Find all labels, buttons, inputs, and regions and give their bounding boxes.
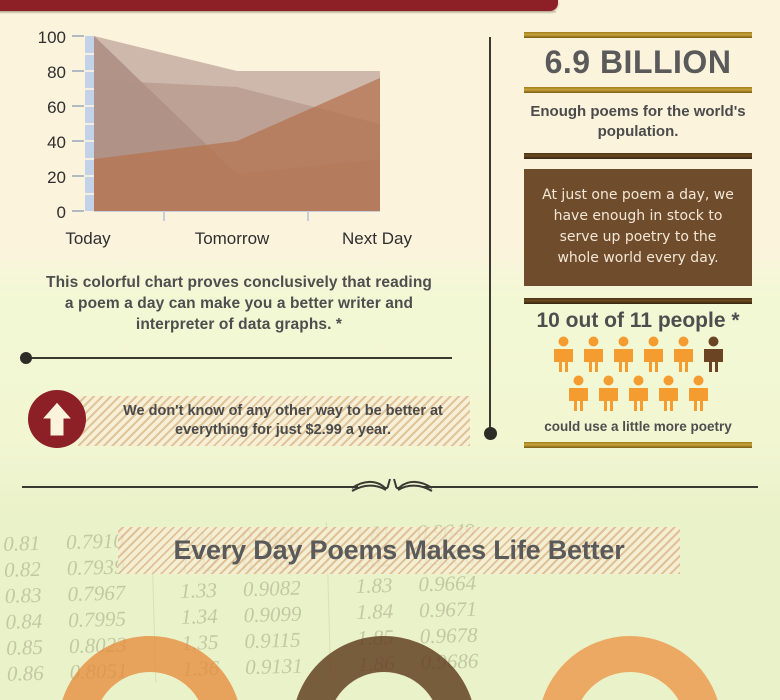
- y-tick-label: 100: [38, 28, 66, 47]
- y-tick-label: 0: [57, 203, 66, 222]
- y-tick-marks: [72, 36, 84, 211]
- person-icon-on: [656, 375, 681, 411]
- ratio-headline: 10 out of 11 people *: [524, 304, 752, 336]
- top-banner-shadow: [0, 11, 556, 14]
- up-arrow-icon: [41, 400, 73, 438]
- big-number-stat: 6.9 BILLION: [524, 38, 752, 87]
- dark-divider-above-box: [524, 153, 752, 159]
- z-cell: 1.33: [180, 577, 217, 604]
- chart-canvas: 100 80 60 40 20 0: [0, 22, 470, 252]
- vertical-divider-line: [489, 37, 491, 433]
- vertical-divider: [484, 32, 498, 440]
- y-tick-label: 60: [47, 98, 66, 117]
- p-cell: 0.7939: [66, 553, 124, 581]
- z-cell: 0.83: [4, 582, 41, 609]
- person-icon-on: [566, 375, 591, 411]
- person-icon-off: [701, 336, 726, 372]
- ornamental-divider-line-left: [22, 486, 358, 488]
- area-chart: 100 80 60 40 20 0: [0, 22, 470, 252]
- z-cell: 0.84: [5, 608, 42, 635]
- p-cell: 0.9082: [243, 575, 301, 603]
- z-cell: 1.83: [355, 572, 392, 599]
- p-cell: 0.9099: [243, 601, 301, 629]
- x-tick-label-nextday: Next Day: [342, 229, 412, 248]
- y-tick-label: 80: [47, 63, 66, 82]
- y-axis-labels: 100 80 60 40 20 0: [38, 28, 66, 222]
- dotted-divider: [20, 352, 452, 364]
- vertical-divider-dot: [484, 427, 497, 440]
- z-cell: 0.85: [6, 634, 43, 661]
- x-tick-marks: [164, 211, 308, 221]
- promo-striped-panel: We don't know of any other way to be bet…: [78, 396, 470, 446]
- person-icon-on: [641, 336, 666, 372]
- explanation-box: At just one poem a day, we have enough i…: [524, 169, 752, 286]
- y-tick-label: 20: [47, 168, 66, 187]
- chart-series-areas: [94, 36, 380, 211]
- person-icon-on: [686, 375, 711, 411]
- p-cell: 0.9671: [419, 596, 477, 624]
- ornamental-divider: [22, 480, 758, 494]
- pictogram-row-1: [524, 336, 752, 372]
- p-cell: 0.9115: [244, 627, 302, 655]
- z-cell: 0.81: [3, 530, 40, 557]
- x-axis-labels: Today Tomorrow Next Day: [65, 229, 412, 248]
- p-cell: 0.9678: [419, 622, 477, 650]
- p-cell: 0.7967: [67, 579, 125, 607]
- gold-divider-bottom: [524, 442, 752, 448]
- top-red-banner: [0, 0, 558, 11]
- bottom-title-text: Every Day Poems Makes Life Better: [173, 535, 624, 566]
- flourish-knot-icon: [350, 476, 434, 498]
- person-icon-on: [551, 336, 576, 372]
- pictogram-row-2: [524, 375, 752, 411]
- stats-column: 6.9 BILLION Enough poems for the world's…: [524, 32, 752, 448]
- promo-banner: We don't know of any other way to be bet…: [28, 390, 454, 452]
- z-cell: 0.82: [4, 556, 41, 583]
- chart-caption: This colorful chart proves conclusively …: [40, 272, 438, 335]
- people-pictogram: [524, 336, 752, 416]
- promo-text: We don't know of any other way to be bet…: [104, 402, 462, 440]
- big-number-subtitle: Enough poems for the world's population.: [524, 93, 752, 153]
- person-icon-on: [626, 375, 651, 411]
- up-arrow-badge[interactable]: [28, 390, 86, 448]
- divider-dot: [20, 352, 32, 364]
- z-cell: 0.86: [7, 660, 44, 687]
- p-cell: 0.7910: [66, 527, 124, 555]
- x-tick-label-today: Today: [65, 229, 111, 248]
- pictogram-caption: could use a little more poetry: [524, 416, 752, 442]
- person-icon-on: [611, 336, 636, 372]
- bottom-title-banner: Every Day Poems Makes Life Better: [118, 527, 680, 574]
- person-icon-on: [581, 336, 606, 372]
- p-cell: 0.7995: [68, 605, 126, 633]
- divider-line: [26, 357, 452, 359]
- p-cell: 0.9131: [245, 653, 303, 681]
- y-tick-label: 40: [47, 133, 66, 152]
- person-icon-on: [596, 375, 621, 411]
- infographic-page: 100 80 60 40 20 0: [0, 0, 780, 700]
- z-cell: 1.34: [181, 603, 218, 630]
- z-cell: 1.84: [356, 598, 393, 625]
- person-icon-on: [671, 336, 696, 372]
- ornamental-divider-line-right: [422, 486, 758, 488]
- z-table-col-z: 0.81 0.82 0.83 0.84 0.85 0.86: [0, 529, 57, 687]
- x-tick-label-tomorrow: Tomorrow: [195, 229, 270, 248]
